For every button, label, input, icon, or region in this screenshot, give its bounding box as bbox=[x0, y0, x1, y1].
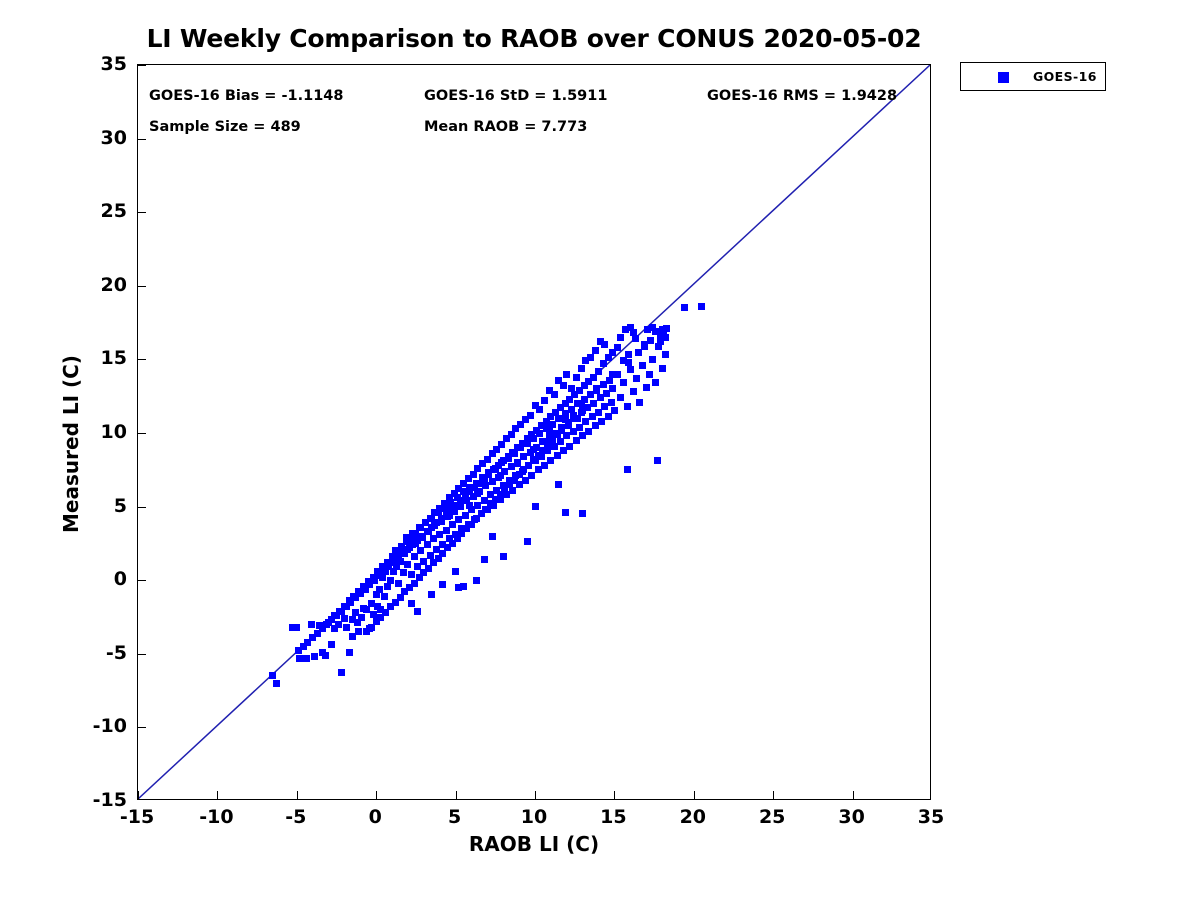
scatter-point bbox=[428, 591, 435, 598]
scatter-point bbox=[481, 556, 488, 563]
scatter-point bbox=[659, 365, 666, 372]
y-tick-label: 30 bbox=[55, 127, 127, 149]
scatter-point bbox=[698, 303, 705, 310]
y-tick-label: -5 bbox=[55, 642, 127, 664]
scatter-point bbox=[630, 388, 637, 395]
scatter-point bbox=[331, 612, 338, 619]
x-tick-label: 5 bbox=[448, 806, 461, 828]
y-tick-mark bbox=[138, 507, 146, 508]
scatter-point bbox=[489, 533, 496, 540]
scatter-point bbox=[546, 428, 553, 435]
scatter-point bbox=[627, 366, 634, 373]
scatter-point bbox=[497, 472, 504, 479]
scatter-point bbox=[532, 402, 539, 409]
scatter-point bbox=[620, 379, 627, 386]
scatter-point bbox=[555, 481, 562, 488]
scatter-point bbox=[578, 365, 585, 372]
scatter-point bbox=[524, 538, 531, 545]
scatter-point bbox=[500, 553, 507, 560]
y-tick-mark bbox=[138, 654, 146, 655]
x-tick-label: 30 bbox=[838, 806, 864, 828]
scatter-point bbox=[328, 641, 335, 648]
scatter-point bbox=[404, 561, 411, 568]
y-tick-label: -10 bbox=[55, 715, 127, 737]
y-tick-mark bbox=[138, 580, 146, 581]
scatter-point bbox=[578, 400, 585, 407]
scatter-point bbox=[641, 343, 648, 350]
scatter-point bbox=[662, 334, 669, 341]
scatter-point bbox=[609, 371, 616, 378]
scatter-point bbox=[363, 628, 370, 635]
scatter-point bbox=[649, 324, 656, 331]
scatter-point bbox=[624, 466, 631, 473]
scatter-point bbox=[587, 354, 594, 361]
x-tick-mark bbox=[456, 791, 457, 799]
x-tick-mark bbox=[535, 791, 536, 799]
scatter-point bbox=[562, 509, 569, 516]
x-tick-mark bbox=[694, 791, 695, 799]
scatter-point bbox=[381, 593, 388, 600]
y-tick-mark bbox=[138, 139, 146, 140]
y-tick-label: -15 bbox=[55, 789, 127, 811]
stat-bias: GOES-16 Bias = -1.1148 bbox=[149, 88, 343, 104]
y-tick-label: 20 bbox=[55, 274, 127, 296]
y-tick-mark bbox=[138, 212, 146, 213]
y-tick-mark bbox=[138, 433, 146, 434]
scatter-point bbox=[617, 394, 624, 401]
scatter-point bbox=[439, 581, 446, 588]
chart-title: LI Weekly Comparison to RAOB over CONUS … bbox=[137, 24, 931, 53]
scatter-point bbox=[646, 371, 653, 378]
scatter-point bbox=[632, 335, 639, 342]
scatter-point bbox=[346, 649, 353, 656]
scatter-point bbox=[343, 624, 350, 631]
x-tick-mark bbox=[614, 791, 615, 799]
scatter-point bbox=[530, 446, 537, 453]
scatter-point bbox=[681, 304, 688, 311]
scatter-point bbox=[295, 647, 302, 654]
scatter-point bbox=[532, 503, 539, 510]
scatter-point bbox=[593, 387, 600, 394]
scatter-point bbox=[555, 377, 562, 384]
legend-label-goes16: GOES-16 bbox=[1033, 69, 1097, 84]
x-tick-mark bbox=[138, 791, 139, 799]
scatter-point bbox=[473, 577, 480, 584]
chart-figure: LI Weekly Comparison to RAOB over CONUS … bbox=[0, 0, 1200, 900]
scatter-point bbox=[639, 362, 646, 369]
stat-sample-size: Sample Size = 489 bbox=[149, 119, 301, 135]
scatter-point bbox=[633, 375, 640, 382]
scatter-point bbox=[579, 407, 586, 414]
scatter-point bbox=[592, 347, 599, 354]
legend[interactable]: GOES-16 bbox=[960, 62, 1106, 91]
scatter-point bbox=[625, 359, 632, 366]
x-tick-mark bbox=[773, 791, 774, 799]
scatter-point bbox=[273, 680, 280, 687]
scatter-point bbox=[303, 655, 310, 662]
scatter-point bbox=[654, 457, 661, 464]
scatter-point bbox=[395, 580, 402, 587]
scatter-point bbox=[563, 371, 570, 378]
x-tick-label: -5 bbox=[285, 806, 306, 828]
scatter-point bbox=[446, 512, 453, 519]
y-axis-label: Measured LI (C) bbox=[59, 344, 83, 544]
scatter-point bbox=[579, 510, 586, 517]
scatter-point bbox=[269, 672, 276, 679]
scatter-point bbox=[452, 568, 459, 575]
scatter-point bbox=[400, 569, 407, 576]
x-tick-mark bbox=[217, 791, 218, 799]
y-tick-mark bbox=[138, 359, 146, 360]
scatter-point bbox=[652, 379, 659, 386]
x-axis-label: RAOB LI (C) bbox=[137, 832, 931, 856]
scatter-point bbox=[617, 334, 624, 341]
scatter-point bbox=[600, 360, 607, 367]
scatter-point bbox=[370, 611, 377, 618]
scatter-point bbox=[308, 621, 315, 628]
scatter-point bbox=[514, 460, 521, 467]
scatter-point bbox=[601, 341, 608, 348]
x-tick-label: 25 bbox=[759, 806, 785, 828]
scatter-point bbox=[546, 387, 553, 394]
scatter-point bbox=[414, 608, 421, 615]
scatter-point bbox=[376, 586, 383, 593]
scatter-point bbox=[568, 385, 575, 392]
scatter-point bbox=[541, 397, 548, 404]
scatter-point bbox=[643, 384, 650, 391]
scatter-point bbox=[408, 600, 415, 607]
y-tick-label: 35 bbox=[55, 53, 127, 75]
x-tick-label: 35 bbox=[918, 806, 944, 828]
y-tick-label: 0 bbox=[55, 568, 127, 590]
scatter-point bbox=[474, 490, 481, 497]
y-tick-mark bbox=[138, 65, 146, 66]
scatter-point bbox=[408, 571, 415, 578]
stat-mean-raob: Mean RAOB = 7.773 bbox=[424, 119, 587, 135]
legend-marker-goes16-icon bbox=[998, 72, 1009, 83]
scatter-point bbox=[662, 351, 669, 358]
scatter-point bbox=[466, 502, 473, 509]
scatter-markers-layer bbox=[138, 65, 930, 799]
x-tick-mark bbox=[853, 791, 854, 799]
x-tick-label: 15 bbox=[600, 806, 626, 828]
scatter-point bbox=[349, 633, 356, 640]
scatter-point bbox=[649, 356, 656, 363]
scatter-point bbox=[355, 628, 362, 635]
scatter-point bbox=[354, 619, 361, 626]
scatter-point bbox=[659, 326, 666, 333]
x-tick-label: 10 bbox=[521, 806, 547, 828]
scatter-point bbox=[608, 399, 615, 406]
scatter-point bbox=[293, 624, 300, 631]
scatter-point bbox=[624, 403, 631, 410]
scatter-point bbox=[311, 653, 318, 660]
x-tick-label: 0 bbox=[369, 806, 382, 828]
x-tick-label: 20 bbox=[680, 806, 706, 828]
scatter-point bbox=[611, 407, 618, 414]
x-tick-label: -10 bbox=[199, 806, 233, 828]
x-tick-mark bbox=[297, 791, 298, 799]
scatter-point bbox=[338, 669, 345, 676]
scatter-point bbox=[627, 324, 634, 331]
scatter-point bbox=[609, 385, 616, 392]
scatter-point bbox=[562, 416, 569, 423]
stat-std: GOES-16 StD = 1.5911 bbox=[424, 88, 607, 104]
x-tick-mark bbox=[376, 791, 377, 799]
scatter-point bbox=[647, 337, 654, 344]
y-tick-label: 25 bbox=[55, 200, 127, 222]
scatter-point bbox=[341, 615, 348, 622]
scatter-point bbox=[455, 584, 462, 591]
scatter-point bbox=[322, 652, 329, 659]
y-tick-mark bbox=[138, 286, 146, 287]
scatter-point bbox=[387, 577, 394, 584]
scatter-point bbox=[570, 412, 577, 419]
scatter-point bbox=[636, 399, 643, 406]
scatter-point bbox=[573, 374, 580, 381]
stat-rms: GOES-16 RMS = 1.9428 bbox=[707, 88, 897, 104]
y-tick-mark bbox=[138, 727, 146, 728]
plot-area[interactable] bbox=[137, 64, 931, 800]
